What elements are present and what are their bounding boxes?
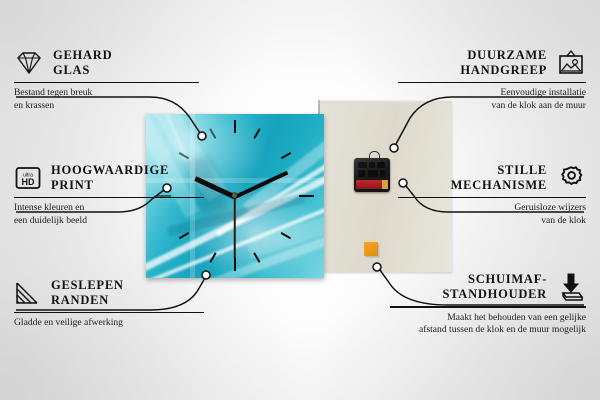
feature-title: SCHUIMAF- STANDHOUDER: [442, 272, 547, 302]
tick-11: [209, 128, 216, 138]
feature-desc-line1: Eenvoudige installatie: [398, 87, 586, 100]
feature-geslepen-randen: GESLEPEN RANDEN Gladde en veilige afwerk…: [14, 278, 204, 330]
feature-desc-line2: afstand tussen de klok en de muur mogeli…: [390, 324, 586, 337]
tick-2: [281, 152, 291, 159]
battery-positive-terminal: [382, 180, 388, 189]
feature-desc-line1: Gladde en veilige afwerking: [14, 317, 204, 330]
press-down-pad-icon: [556, 272, 586, 302]
feature-stille-mechanisme: STILLE MECHANISME Geruisloze wijzers van…: [398, 163, 586, 227]
mechanism-slot: [380, 170, 385, 177]
feature-desc-line1: Bestand tegen breuk: [14, 87, 199, 100]
divider-rule: [398, 82, 586, 84]
mechanism-slot: [368, 170, 378, 177]
feature-gehard-glas: GEHARD GLAS Bestand tegen breuk en krass…: [14, 48, 199, 112]
divider-rule: [14, 82, 199, 84]
feature-desc-line2: van de klok aan de muur: [398, 100, 586, 113]
tick-12: [234, 120, 236, 133]
gear-icon: [556, 164, 586, 192]
mechanism-slot: [369, 162, 375, 168]
svg-text:HD: HD: [22, 177, 35, 187]
diamond-icon: [14, 50, 44, 76]
tick-6: [234, 258, 236, 271]
feature-desc-line1: Maakt het behouden van een gelijke: [390, 312, 586, 325]
mechanism-slot: [377, 162, 385, 168]
feature-hoogwaardige-print: ultra HD HOOGWAARDIGE PRINT Intense kleu…: [14, 163, 204, 227]
feature-title: STILLE MECHANISME: [451, 163, 547, 193]
infographic-canvas: GEHARD GLAS Bestand tegen breuk en krass…: [0, 0, 600, 400]
feature-schuimafstandhouder: SCHUIMAF- STANDHOUDER Maakt het behouden…: [390, 272, 586, 337]
divider-rule: [14, 197, 204, 199]
feature-title: GEHARD GLAS: [53, 48, 112, 78]
feature-heading-row: STILLE MECHANISME: [398, 163, 586, 193]
feature-desc-line1: Geruisloze wijzers: [398, 202, 586, 215]
hanging-picture-icon: [556, 49, 586, 77]
feature-heading-row: SCHUIMAF- STANDHOUDER: [390, 272, 586, 302]
second-hand: [234, 197, 236, 259]
foam-spacer: [364, 242, 378, 256]
feature-duurzame-handgreep: DUURZAME HANDGREEP Eenvoudige installati…: [398, 48, 586, 112]
clock-hands-hub: [232, 193, 237, 198]
tick-1: [253, 128, 260, 138]
feature-desc-line2: van de klok: [398, 215, 586, 228]
feature-title: HOOGWAARDIGE PRINT: [51, 163, 169, 193]
feature-desc-line1: Intense kleuren en: [14, 202, 204, 215]
feature-desc-line2: en krassen: [14, 100, 199, 113]
feature-heading-row: GEHARD GLAS: [14, 48, 199, 78]
mechanism-slot: [358, 170, 365, 177]
feature-desc-line2: een duidelijk beeld: [14, 215, 204, 228]
feature-title: GESLEPEN RANDEN: [51, 278, 124, 308]
feature-heading-row: ultra HD HOOGWAARDIGE PRINT: [14, 163, 204, 193]
diagonal-lines-icon: [14, 280, 42, 306]
divider-rule: [14, 312, 204, 314]
ultra-hd-icon: ultra HD: [14, 165, 42, 191]
divider-rule: [398, 197, 586, 199]
feature-title: DUURZAME HANDGREEP: [460, 48, 547, 78]
mechanism-slot: [358, 162, 367, 168]
divider-rule: [390, 306, 586, 308]
feature-heading-row: DUURZAME HANDGREEP: [398, 48, 586, 78]
feature-heading-row: GESLEPEN RANDEN: [14, 278, 204, 308]
